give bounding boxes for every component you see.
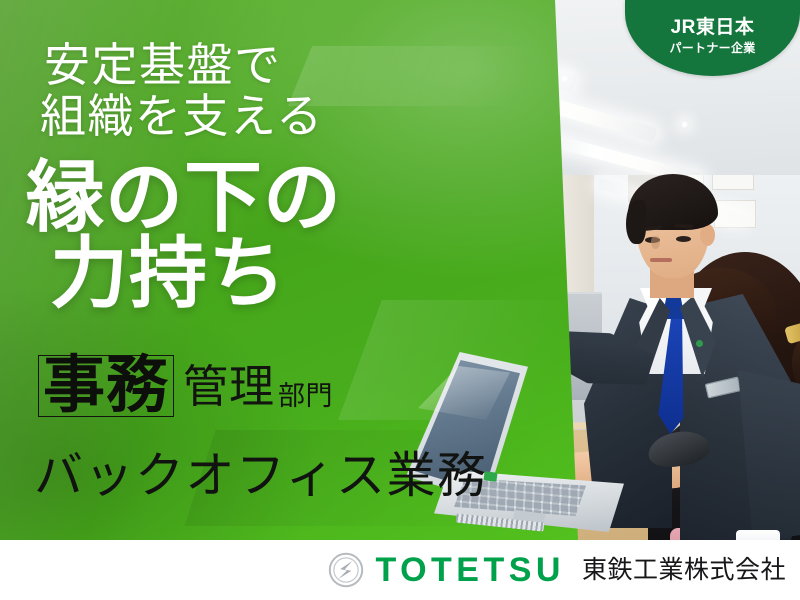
department-line: 事務 管理 部門 [38,352,333,417]
downlight-icon [560,74,569,83]
man-lapel-pin [696,340,703,347]
man-mouth [650,258,672,262]
department-boxed-text: 事務 [43,351,169,420]
logo-bar: TOTETSU 東鉄工業株式会社 [0,540,800,600]
man-hair-side [626,200,646,244]
main-headline: 縁の下の 力持ち [26,160,342,311]
recruitment-banner: 資料 掲示 [0,0,800,600]
backoffice-label: バックオフィス業務 [34,436,488,507]
subheadline-line-2: 組織を支える [40,91,324,142]
subheadline: 安定基盤で 組織を支える [44,40,324,142]
headline-line-2: 力持ち [50,236,342,312]
downlight-icon [680,120,689,129]
man-shirt-cuff [736,530,780,540]
company-name-jp: 東鉄工業株式会社 [582,558,786,583]
headline-line-1: 縁の下の [26,153,342,241]
totetsu-emblem-icon [328,552,364,588]
department-label-sub: 部門 [278,374,333,413]
department-boxed-label: 事務 [38,355,174,417]
company-logo: TOTETSU 東鉄工業株式会社 [328,552,786,588]
banner-copy: 安定基盤で 組織を支える 縁の下の 力持ち 事務 管理 部門 バックオフィス業務 [0,0,560,540]
man-nose [651,236,660,249]
totetsu-wordmark: TOTETSU [375,553,565,587]
jr-badge-line-2: パートナー企業 [669,42,755,55]
man-eye [676,236,691,242]
jr-badge-line-1: JR東日本 [671,18,755,39]
department-label-main: 管理 [183,350,275,415]
subheadline-line-1: 安定基盤で [44,39,282,91]
